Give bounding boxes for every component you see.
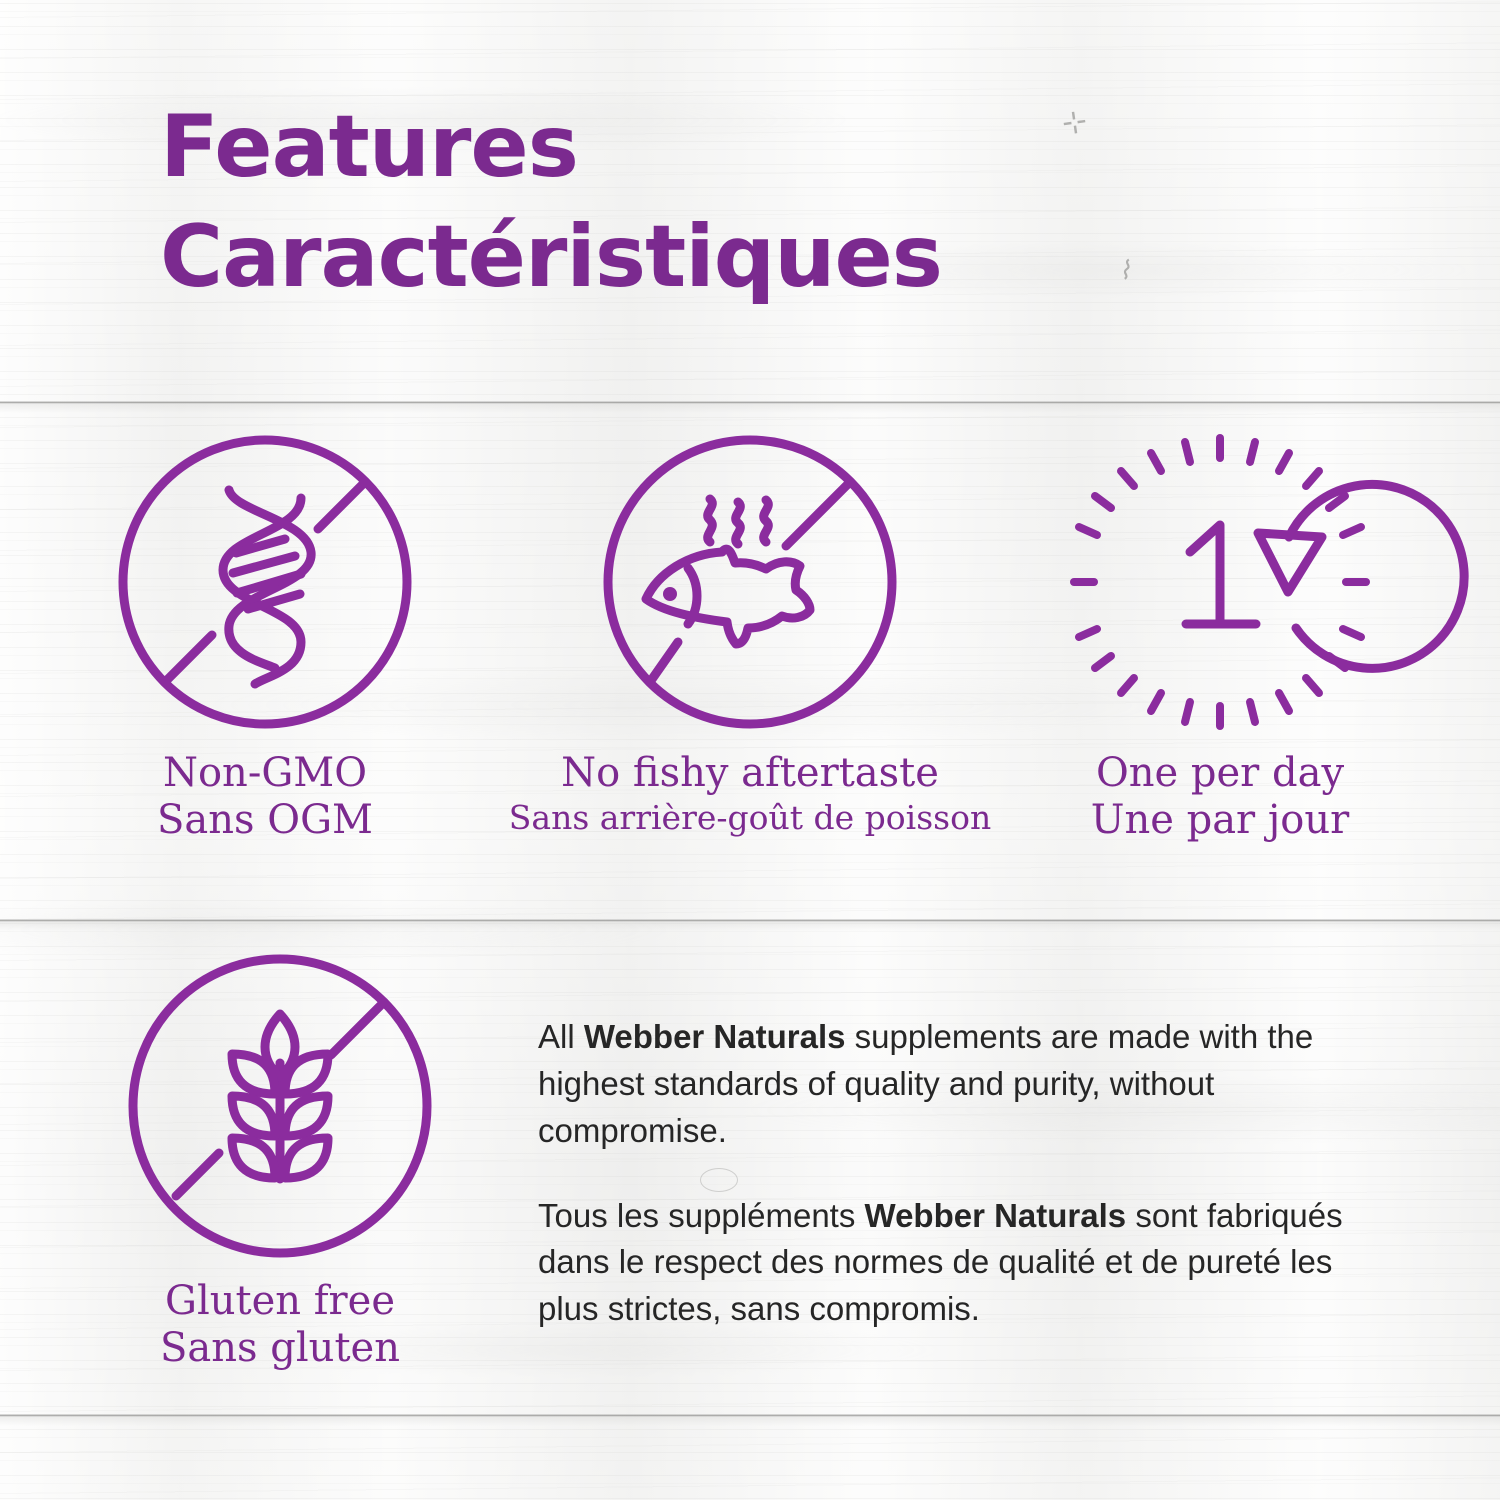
feature-label-en: Non-GMO xyxy=(30,750,500,797)
feature-non-gmo: Non-GMO Sans OGM xyxy=(30,432,500,844)
feature-label-en: No fishy aftertaste xyxy=(500,750,1000,797)
feature-gluten-free: Gluten free Sans gluten xyxy=(30,952,530,1372)
title-french: Caractéristiques xyxy=(160,214,1360,300)
no-gmo-dna-icon xyxy=(30,432,500,732)
page-title: Features Caractéristiques xyxy=(160,104,1360,300)
feature-label-fr: Sans gluten xyxy=(30,1325,530,1372)
feature-non-gmo-labels: Non-GMO Sans OGM xyxy=(30,750,500,844)
feature-one-per-day: One per day Une par jour xyxy=(1000,432,1440,844)
title-english: Features xyxy=(160,104,1360,190)
feature-label-fr: Une par jour xyxy=(1000,797,1440,844)
para-fr-before: Tous les suppléments xyxy=(538,1197,865,1234)
feature-no-fishy-aftertaste: No fishy aftertaste Sans arrière-goût de… xyxy=(500,432,1000,844)
brand-statement-english: All Webber Naturals supplements are made… xyxy=(538,1014,1368,1155)
feature-gluten-free-labels: Gluten free Sans gluten xyxy=(30,1278,530,1372)
feature-label-fr: Sans arrière-goût de poisson xyxy=(500,797,1000,838)
feature-label-en: Gluten free xyxy=(30,1278,530,1325)
feature-row: Non-GMO Sans OGM xyxy=(0,432,1500,844)
bottom-section: Gluten free Sans gluten All Webber Natur… xyxy=(0,952,1500,1372)
gluten-free-wheat-icon xyxy=(30,952,530,1260)
brand-statement-french: Tous les suppléments Webber Naturals son… xyxy=(538,1193,1368,1334)
no-fishy-aftertaste-icon xyxy=(500,432,1000,732)
para-en-before: All xyxy=(538,1018,584,1055)
para-fr-brand: Webber Naturals xyxy=(865,1197,1127,1234)
feature-one-per-day-labels: One per day Une par jour xyxy=(1000,750,1440,844)
para-en-brand: Webber Naturals xyxy=(584,1018,846,1055)
feature-label-en: One per day xyxy=(1000,750,1440,797)
one-per-day-icon xyxy=(1000,432,1440,732)
feature-no-fishy-labels: No fishy aftertaste Sans arrière-goût de… xyxy=(500,750,1000,838)
feature-label-fr: Sans OGM xyxy=(30,797,500,844)
brand-statement: All Webber Naturals supplements are made… xyxy=(538,952,1368,1333)
infographic-canvas: ⊹ ⌇ Features Caractéristiques xyxy=(0,0,1500,1500)
